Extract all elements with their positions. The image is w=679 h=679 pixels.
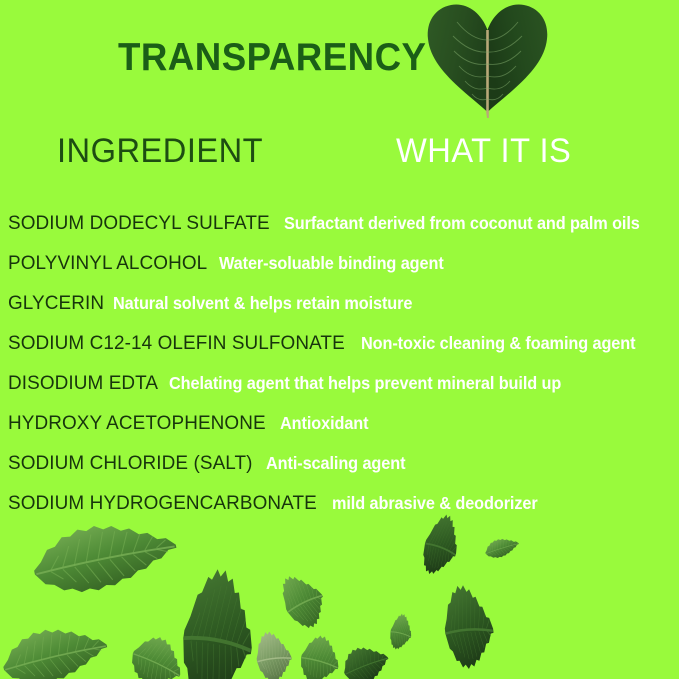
leaf-icon (172, 563, 263, 679)
leaf-icon (272, 565, 336, 639)
ingredient-description: Water-soluable binding agent (219, 243, 444, 283)
ingredient-name: SODIUM HYDROGENCARBONATE (8, 483, 317, 523)
transparency-poster: TRANSPARENCY (0, 0, 679, 679)
ingredient-name: POLYVINYL ALCOHOL (8, 243, 207, 283)
ingredient-row: POLYVINYL ALCOHOLWater-soluable binding … (0, 243, 679, 283)
ingredient-description: Anti-scaling agent (266, 443, 405, 483)
leaf-icon (386, 611, 416, 655)
ingredient-description: mild abrasive & deodorizer (332, 483, 538, 523)
ingredient-description: Non-toxic cleaning & foaming agent (361, 323, 635, 363)
column-header-what-it-is: WHAT IT IS (396, 132, 571, 171)
ingredient-name: DISODIUM EDTA (8, 363, 158, 403)
poster-header: TRANSPARENCY (0, 0, 679, 120)
leaf-icon (252, 628, 295, 679)
column-header-ingredient: INGREDIENT (57, 132, 263, 171)
leaf-scatter-decoration (0, 505, 679, 679)
ingredient-description: Antioxidant (280, 403, 368, 443)
column-header-row: INGREDIENT WHAT IT IS (0, 132, 679, 184)
ingredient-name: SODIUM DODECYL SULFATE (8, 203, 270, 243)
page-title: TRANSPARENCY (118, 36, 426, 80)
ingredient-row: SODIUM DODECYL SULFATESurfactant derived… (0, 203, 679, 243)
leaf-icon (122, 628, 192, 679)
ingredient-row: DISODIUM EDTAChelating agent that helps … (0, 363, 679, 403)
leaf-icon (24, 508, 185, 608)
heart-leaf-icon (424, 0, 551, 120)
leaf-icon (439, 581, 498, 678)
ingredient-name: GLYCERIN (8, 283, 104, 323)
leaf-icon (482, 533, 522, 563)
leaf-icon (336, 637, 395, 679)
ingredient-description: Chelating agent that helps prevent miner… (169, 363, 561, 403)
ingredient-row: SODIUM HYDROGENCARBONATEmild abrasive & … (0, 483, 679, 523)
ingredient-row: SODIUM CHLORIDE (SALT)Anti-scaling agent (0, 443, 679, 483)
ingredient-description: Surfactant derived from coconut and palm… (284, 203, 640, 243)
leaf-icon (0, 615, 115, 679)
ingredient-table: SODIUM DODECYL SULFATESurfactant derived… (0, 203, 679, 523)
ingredient-name: SODIUM CHLORIDE (SALT) (8, 443, 253, 483)
ingredient-name: HYDROXY ACETOPHENONE (8, 403, 266, 443)
leaf-icon (294, 631, 345, 679)
ingredient-name: SODIUM C12-14 OLEFIN SULFONATE (8, 323, 345, 363)
ingredient-row: SODIUM C12-14 OLEFIN SULFONATENon-toxic … (0, 323, 679, 363)
ingredient-description: Natural solvent & helps retain moisture (113, 283, 412, 323)
ingredient-row: HYDROXY ACETOPHENONEAntioxidant (0, 403, 679, 443)
ingredient-row: GLYCERINNatural solvent & helps retain m… (0, 283, 679, 323)
